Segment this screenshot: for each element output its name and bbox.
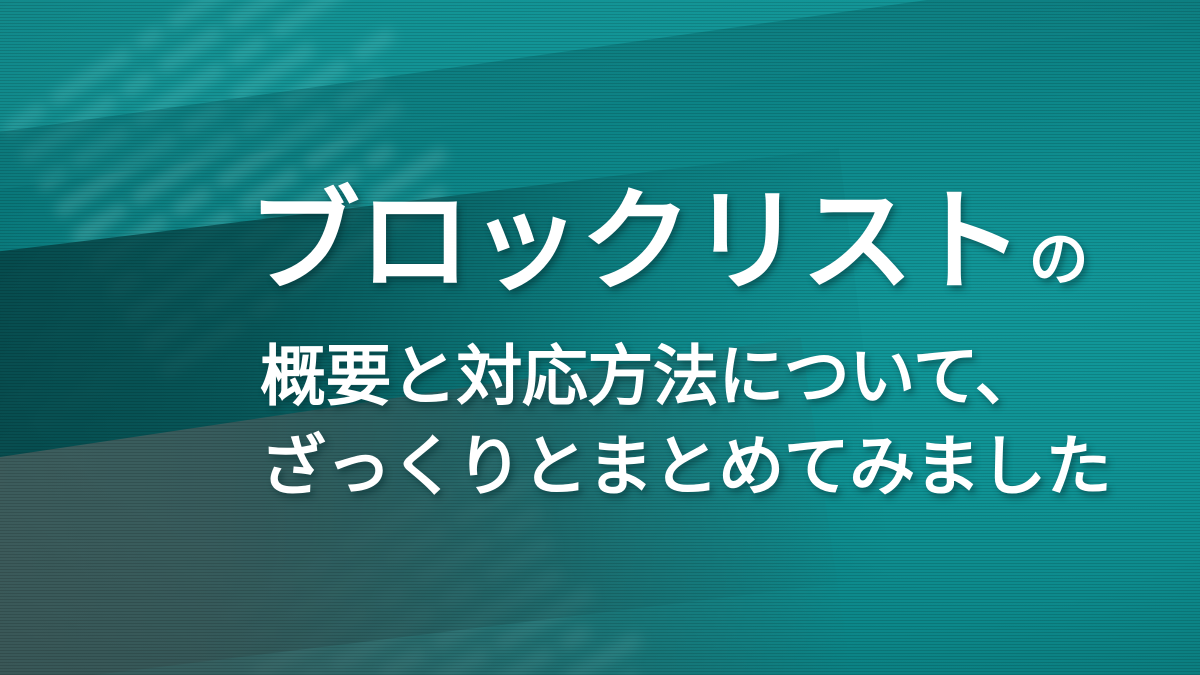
headline: ブロックリストの (248, 186, 1089, 298)
title-card-slide: ブロックリストの 概要と対応方法について、 ざっくりとまとめてみました (0, 0, 1200, 675)
subline-2: ざっくりとまとめてみました (260, 434, 1111, 500)
subline-1: 概要と対応方法について、 (260, 344, 1040, 410)
text-block: ブロックリストの 概要と対応方法について、 ざっくりとまとめてみました (0, 0, 1200, 675)
headline-main: ブロックリスト (248, 177, 1023, 307)
headline-suffix: の (1029, 225, 1089, 295)
